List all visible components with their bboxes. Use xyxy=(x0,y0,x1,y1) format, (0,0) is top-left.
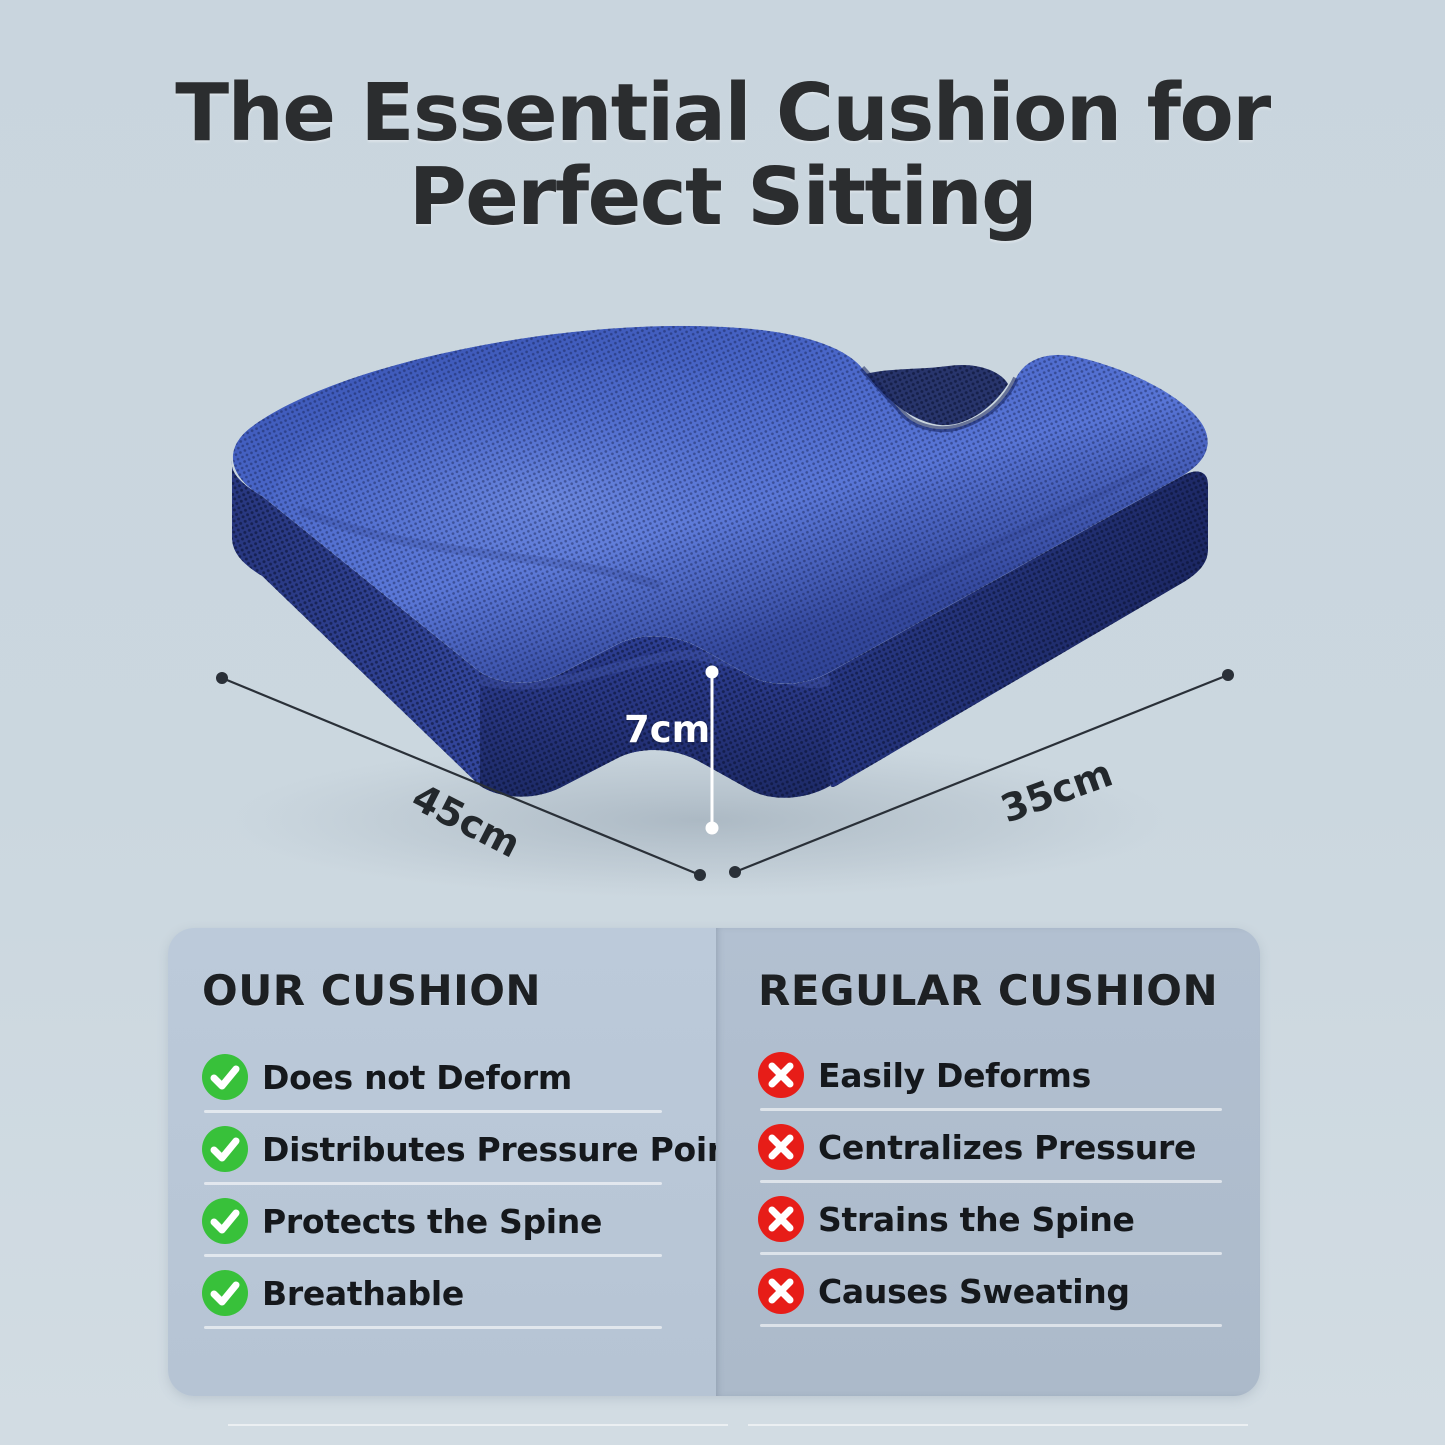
feature-label: Easily Deforms xyxy=(818,1056,1091,1095)
cross-circle-icon xyxy=(758,1052,804,1098)
check-circle-icon xyxy=(202,1270,248,1316)
check-circle-icon xyxy=(202,1126,248,1172)
feature-label: Protects the Spine xyxy=(262,1202,602,1241)
title-line-1: The Essential Cushion for xyxy=(0,72,1445,156)
feature-row: Distributes Pressure Points xyxy=(202,1113,690,1185)
comparison-column-regular-cushion: REGULAR CUSHION Easily Deforms Centraliz… xyxy=(716,928,1260,1396)
dimension-dot-45-end xyxy=(694,869,706,881)
feature-label: Does not Deform xyxy=(262,1058,572,1097)
check-circle-icon xyxy=(202,1054,248,1100)
feature-label: Centralizes Pressure xyxy=(818,1128,1196,1167)
dimension-dot-35-end xyxy=(1222,669,1234,681)
dimension-dot-35-start xyxy=(729,866,741,878)
feature-label: Causes Sweating xyxy=(818,1272,1130,1311)
comparison-column-our-cushion: OUR CUSHION Does not Deform Distributes … xyxy=(168,928,716,1396)
cross-circle-icon xyxy=(758,1196,804,1242)
column-header-regular-cushion: REGULAR CUSHION xyxy=(758,966,1234,1015)
feature-row: Does not Deform xyxy=(202,1041,690,1113)
product-image-area xyxy=(0,300,1445,920)
cross-circle-icon xyxy=(758,1124,804,1170)
page-title: The Essential Cushion for Perfect Sittin… xyxy=(0,72,1445,239)
column-header-our-cushion: OUR CUSHION xyxy=(202,966,690,1015)
feature-row: Causes Sweating xyxy=(758,1255,1234,1327)
panel-under-rule-left xyxy=(228,1424,728,1426)
dimension-dot-7-top xyxy=(706,666,719,679)
infographic-page: The Essential Cushion for Perfect Sittin… xyxy=(0,0,1445,1445)
feature-row: Easily Deforms xyxy=(758,1039,1234,1111)
dimension-dot-7-bottom xyxy=(706,822,719,835)
cross-circle-icon xyxy=(758,1268,804,1314)
feature-row: Centralizes Pressure xyxy=(758,1111,1234,1183)
feature-row: Protects the Spine xyxy=(202,1185,690,1257)
feature-row: Strains the Spine xyxy=(758,1183,1234,1255)
dimension-dot-45-start xyxy=(216,672,228,684)
feature-row: Breathable xyxy=(202,1257,690,1329)
panel-under-rule-right xyxy=(748,1424,1248,1426)
feature-label: Distributes Pressure Points xyxy=(262,1130,765,1169)
feature-label: Breathable xyxy=(262,1274,464,1313)
comparison-panel: OUR CUSHION Does not Deform Distributes … xyxy=(168,928,1260,1396)
check-circle-icon xyxy=(202,1198,248,1244)
title-line-2: Perfect Sitting xyxy=(0,156,1445,240)
dimension-label-height: 7cm xyxy=(624,708,710,751)
feature-label: Strains the Spine xyxy=(818,1200,1135,1239)
cushion-illustration xyxy=(0,300,1445,920)
